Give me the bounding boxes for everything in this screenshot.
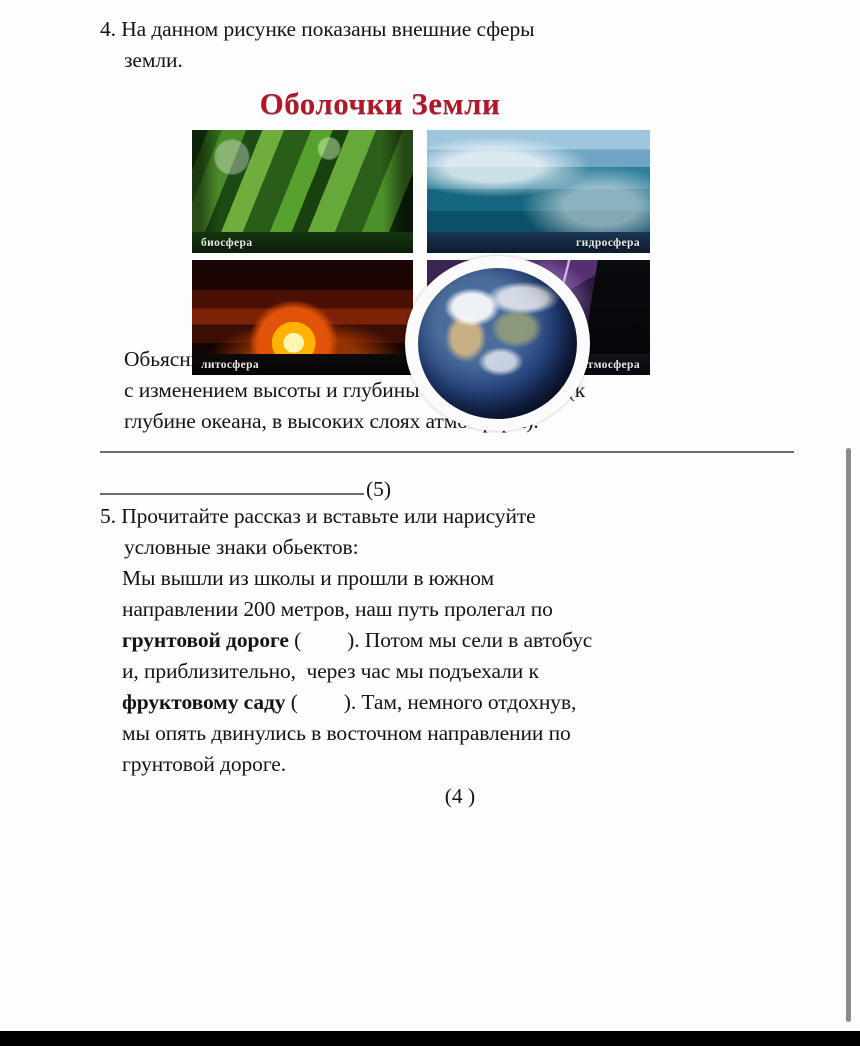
story-line-4: и, приблизительно, через час мы подъехал… (100, 656, 800, 687)
answer-lines-4: (5) (100, 451, 800, 495)
question-5-line-1: 5. Прочитайте рассказ и вставьте или нар… (100, 501, 800, 532)
term-orchard: фруктовому саду (122, 690, 285, 714)
answer-rule-1[interactable] (100, 451, 794, 453)
question-4-line-1: 4. На данном рисунке показаны внешние сф… (100, 14, 800, 45)
question-5-line-2: условные знаки обьектов: (100, 532, 800, 563)
story-line-6: мы опять двинулись в восточном направлен… (100, 718, 800, 749)
tile-biosphere-label: биосфера (192, 237, 253, 249)
globe-sphere (418, 268, 577, 419)
tile-lithosphere: литосфера (192, 260, 413, 375)
marks-question-5: (4 ) (100, 784, 800, 809)
story-line-3-close: ). Потом мы сели в автобус (347, 628, 592, 652)
story-line-2: направлении 200 метров, наш путь пролега… (100, 594, 800, 625)
vertical-scrollbar-thumb[interactable] (846, 448, 851, 1022)
story-line-3-open: ( (289, 628, 301, 652)
tile-hydrosphere-label: гидросфера (576, 237, 650, 249)
vertical-scrollbar-track[interactable] (844, 0, 856, 1031)
story-line-5-open: ( (285, 690, 297, 714)
story-line-1: Мы вышли из школы и прошли в южном (100, 563, 800, 594)
tile-biosphere-band: биосфера (192, 232, 413, 253)
story-line-3: грунтовой дороге (). Потом мы сели в авт… (100, 625, 800, 656)
tile-lithosphere-label: литосфера (192, 359, 259, 371)
tile-hydrosphere: гидросфера (427, 130, 650, 253)
answer-rule-2[interactable] (100, 493, 364, 495)
earth-spheres-figure: Оболочки Земли биосфера гидросфера (100, 86, 800, 344)
term-dirt-road: грунтовой дороге (122, 628, 289, 652)
story-line-7: грунтовой дороге. (100, 749, 800, 780)
tile-atmosphere-label: атмосфера (582, 359, 650, 371)
system-navigation-bar (0, 1031, 860, 1046)
earth-globe-icon (405, 256, 590, 431)
story-line-5: фруктовому саду (). Там, немного отдохну… (100, 687, 800, 718)
question-4-line-2: земли. (100, 45, 800, 76)
tile-hydrosphere-band: гидросфера (427, 232, 650, 253)
figure-title: Оболочки Земли (100, 86, 660, 122)
document-page: 4. На данном рисунке показаны внешние сф… (0, 0, 860, 1031)
marks-question-4: (5) (366, 479, 391, 499)
answer-rule-2-row: (5) (100, 475, 800, 495)
tile-biosphere: биосфера (192, 130, 413, 253)
worksheet-content: 4. На данном рисунке показаны внешние сф… (100, 14, 800, 809)
story-line-5-close: ). Там, немного отдохнув, (344, 690, 577, 714)
tile-lithosphere-band: литосфера (192, 354, 413, 375)
